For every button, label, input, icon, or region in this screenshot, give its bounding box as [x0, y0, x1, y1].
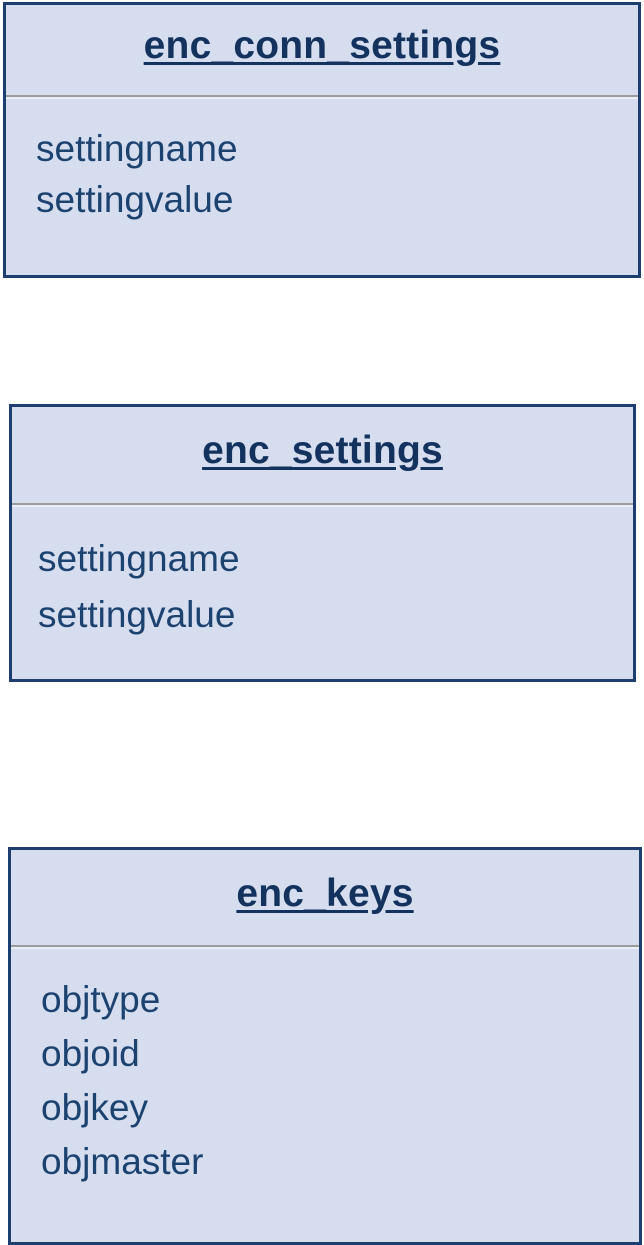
- attribute-row[interactable]: settingname: [38, 531, 633, 587]
- entity-header-enc-keys: enc_keys: [11, 850, 639, 945]
- attribute-row[interactable]: objtype: [41, 973, 639, 1027]
- entity-box-enc-conn-settings[interactable]: enc_conn_settings settingname settingval…: [3, 2, 641, 278]
- attribute-row[interactable]: settingname: [36, 123, 638, 174]
- entity-box-enc-settings[interactable]: enc_settings settingname settingvalue: [9, 404, 636, 682]
- entity-attribute-list-enc-conn-settings: settingname settingvalue: [6, 99, 638, 225]
- entity-title-enc-keys: enc_keys: [236, 872, 413, 916]
- attribute-row[interactable]: settingvalue: [36, 174, 638, 225]
- entity-attribute-list-enc-settings: settingname settingvalue: [12, 507, 633, 643]
- entity-box-enc-keys[interactable]: enc_keys objtype objoid objkey objmaster: [8, 847, 642, 1245]
- entity-attribute-list-enc-keys: objtype objoid objkey objmaster: [11, 949, 639, 1189]
- attribute-row[interactable]: objoid: [41, 1027, 639, 1081]
- entity-title-enc-conn-settings: enc_conn_settings: [144, 24, 501, 68]
- attribute-row[interactable]: objmaster: [41, 1135, 639, 1189]
- diagram-canvas: enc_conn_settings settingname settingval…: [0, 0, 644, 1242]
- attribute-row[interactable]: objkey: [41, 1081, 639, 1135]
- attribute-row[interactable]: settingvalue: [38, 587, 633, 643]
- entity-header-enc-settings: enc_settings: [12, 407, 633, 503]
- entity-divider-enc-keys: [11, 945, 639, 949]
- entity-divider-enc-settings: [12, 503, 633, 507]
- entity-title-enc-settings: enc_settings: [202, 429, 443, 473]
- entity-header-enc-conn-settings: enc_conn_settings: [6, 5, 638, 95]
- entity-divider-enc-conn-settings: [6, 95, 638, 99]
